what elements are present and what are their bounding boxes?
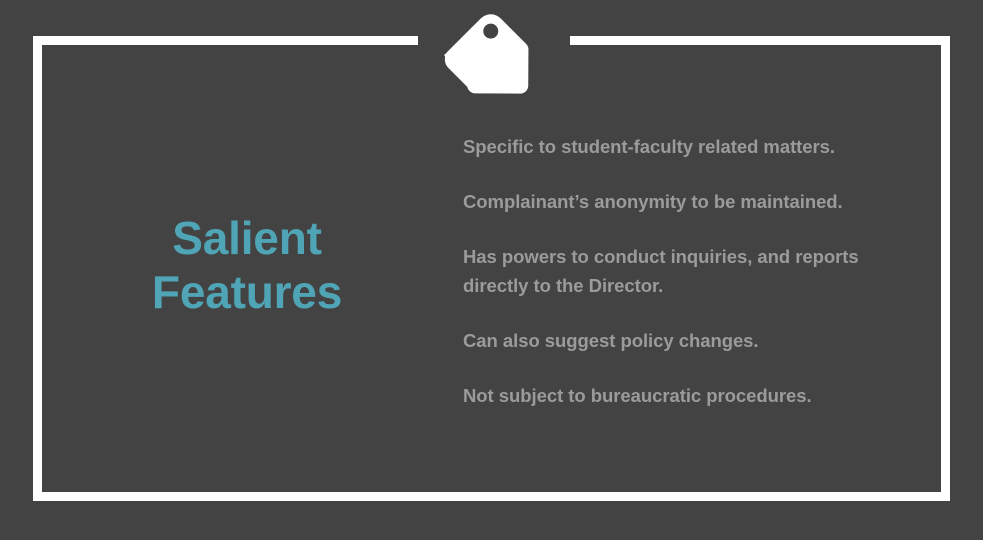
- bullet-list: Specific to student-faculty related matt…: [452, 127, 941, 410]
- title-column: Salient Features: [42, 212, 452, 326]
- frame-border-bottom: [33, 492, 950, 501]
- page-title-line-2: Features: [152, 266, 342, 320]
- frame-border-top-left: [33, 36, 418, 45]
- page-title: Salient Features: [152, 212, 342, 320]
- frame-border-right: [941, 36, 950, 501]
- list-item: Specific to student-faculty related matt…: [463, 133, 893, 161]
- frame-border-top-right: [570, 36, 950, 45]
- list-item: Complainant’s anonymity to be maintained…: [463, 188, 893, 216]
- list-item: Not subject to bureaucratic procedures.: [463, 382, 893, 410]
- frame-border-left: [33, 36, 42, 501]
- slide-content: Salient Features Specific to student-fac…: [42, 45, 941, 492]
- page-title-line-1: Salient: [152, 212, 342, 266]
- list-item: Can also suggest policy changes.: [463, 327, 893, 355]
- slide-canvas: Salient Features Specific to student-fac…: [0, 0, 983, 540]
- list-item: Has powers to conduct inquiries, and rep…: [463, 243, 893, 299]
